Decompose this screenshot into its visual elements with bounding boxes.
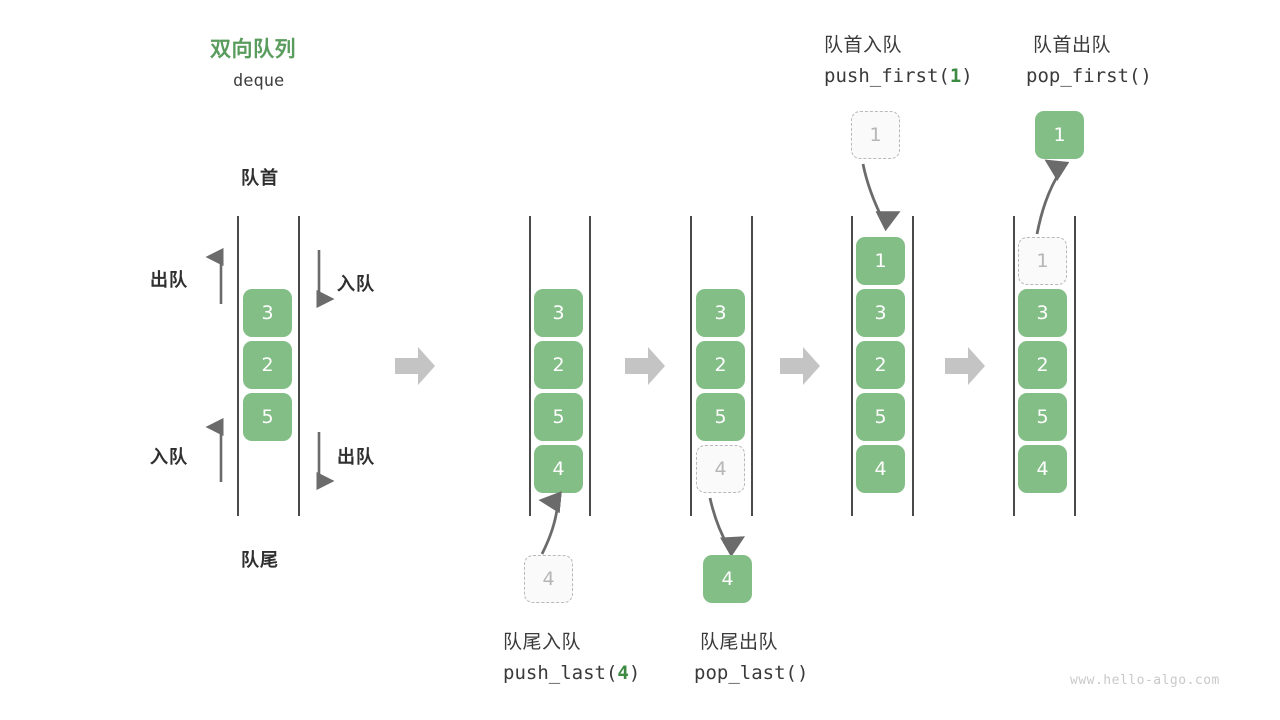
deque-diagram: 双向队列 deque 队首 队尾 3 2 5 出队 (0, 0, 1280, 720)
cell-panel1-1: 2 (243, 341, 292, 389)
cell-panel1-0: 3 (243, 289, 292, 337)
caption-push-first-code: push_first(1) (824, 65, 973, 87)
transition-arrow-3-icon (780, 347, 820, 385)
caption-pop-last-code-suffix: ) (797, 662, 808, 684)
caption-push-last-code: push_last(4) (503, 662, 640, 684)
rail-right-panel-4 (912, 216, 914, 516)
front-enqueue-label: 入队 (337, 270, 375, 296)
floating-solid-panel5: 1 (1035, 111, 1084, 159)
cell-panel2-1: 2 (534, 341, 583, 389)
floating-solid-panel3: 4 (703, 555, 752, 603)
rail-right-panel-1 (298, 216, 300, 516)
ghost-cell-panel5-first: 1 (1018, 237, 1067, 285)
push-first-motion-arrow-icon (855, 162, 925, 238)
ghost-cell-panel3-last: 4 (696, 445, 745, 493)
front-label: 队首 (241, 164, 279, 190)
watermark: www.hello-algo.com (1070, 673, 1220, 688)
caption-pop-last-code: pop_last() (694, 662, 808, 684)
cell-panel3-0: 3 (696, 289, 745, 337)
rail-left-panel-5 (1013, 216, 1015, 516)
transition-arrow-4-icon (945, 347, 985, 385)
caption-push-last-code-arg: 4 (617, 662, 628, 684)
rail-left-panel-3 (690, 216, 692, 516)
transition-arrow-1-icon (395, 347, 435, 385)
cell-panel1-2: 5 (243, 393, 292, 441)
rail-right-panel-5 (1074, 216, 1076, 516)
caption-pop-last-code-prefix: pop_last( (694, 662, 797, 684)
caption-push-last-cn: 队尾入队 (503, 627, 581, 654)
front-enqueue-arrow-icon (308, 248, 332, 308)
rail-right-panel-2 (589, 216, 591, 516)
pop-first-motion-arrow-icon (1025, 158, 1095, 238)
cell-panel5-0: 3 (1018, 289, 1067, 337)
rail-right-panel-3 (751, 216, 753, 516)
rail-left-panel-2 (529, 216, 531, 516)
rear-enqueue-label: 入队 (150, 443, 188, 469)
caption-pop-last-cn: 队尾出队 (700, 627, 778, 654)
cell-panel3-2: 5 (696, 393, 745, 441)
floating-ghost-panel4: 1 (851, 111, 900, 159)
cell-panel2-0: 3 (534, 289, 583, 337)
rail-left-panel-1 (237, 216, 239, 516)
rear-enqueue-arrow-icon (210, 418, 234, 484)
cell-panel4-2: 2 (856, 341, 905, 389)
rear-label: 队尾 (241, 546, 279, 572)
cell-panel4-3: 5 (856, 393, 905, 441)
floating-ghost-panel2: 4 (524, 555, 573, 603)
front-dequeue-arrow-icon (210, 248, 234, 306)
caption-push-first-code-prefix: push_first( (824, 65, 950, 87)
caption-pop-first-cn: 队首出队 (1033, 30, 1111, 57)
cell-panel2-2: 5 (534, 393, 583, 441)
caption-push-first-cn: 队首入队 (824, 30, 902, 57)
caption-push-last-code-prefix: push_last( (503, 662, 617, 684)
cell-panel5-3: 4 (1018, 445, 1067, 493)
cell-panel2-3: 4 (534, 445, 583, 493)
front-dequeue-label: 出队 (150, 266, 188, 292)
caption-push-first-code-suffix: ) (961, 65, 972, 87)
cell-panel4-0: 1 (856, 237, 905, 285)
caption-push-first-code-arg: 1 (950, 65, 961, 87)
rear-dequeue-label: 出队 (337, 443, 375, 469)
cell-panel4-1: 3 (856, 289, 905, 337)
cell-panel4-4: 4 (856, 445, 905, 493)
cell-panel5-1: 2 (1018, 341, 1067, 389)
caption-pop-first-code-prefix: pop_first( (1026, 65, 1140, 87)
push-last-motion-arrow-icon (520, 488, 600, 558)
caption-push-last-code-suffix: ) (629, 662, 640, 684)
caption-pop-first-code-suffix: ) (1140, 65, 1151, 87)
transition-arrow-2-icon (625, 347, 665, 385)
cell-panel5-2: 5 (1018, 393, 1067, 441)
diagram-title-en: deque (233, 71, 284, 91)
caption-pop-first-code: pop_first() (1026, 65, 1152, 87)
rail-left-panel-4 (851, 216, 853, 516)
diagram-title-cn: 双向队列 (210, 33, 296, 63)
cell-panel3-1: 2 (696, 341, 745, 389)
rear-dequeue-arrow-icon (308, 430, 332, 490)
